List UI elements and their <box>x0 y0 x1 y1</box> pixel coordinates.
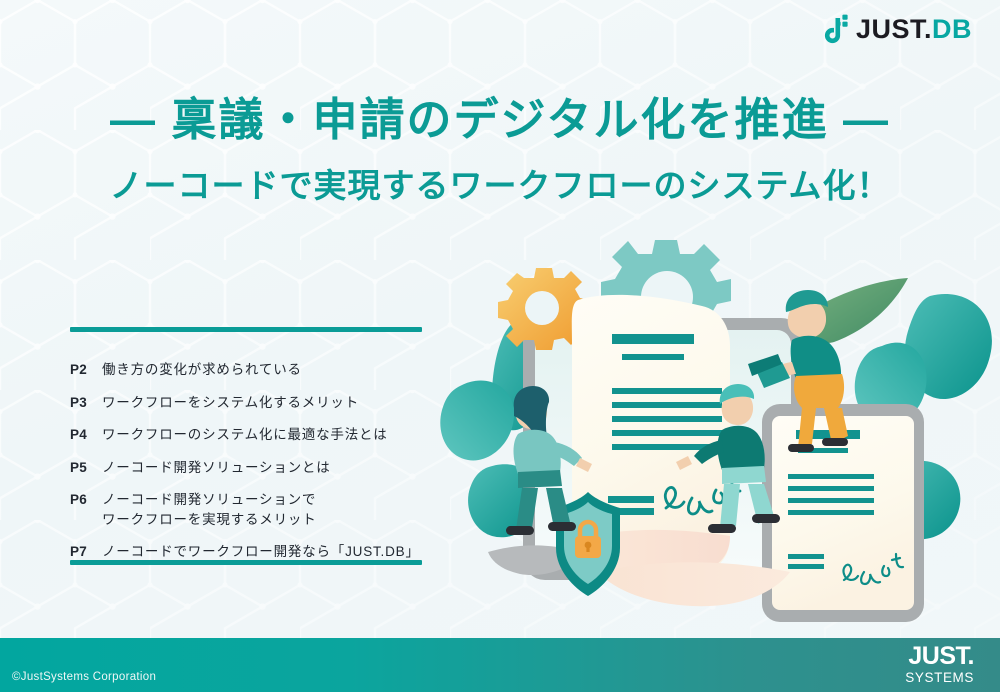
toc-entry-label-line2: ワークフローを実現するメリット <box>102 510 317 530</box>
toc-page-number: P2 <box>70 360 102 380</box>
footer-logo-main: JUST. <box>905 644 974 669</box>
toc-divider-top <box>70 327 422 332</box>
justdb-glyph-icon <box>821 14 849 44</box>
list-item[interactable]: P3 ワークフローをシステム化するメリット <box>70 393 470 413</box>
toc-page-number: P5 <box>70 458 102 478</box>
list-item[interactable]: P2 働き方の変化が求められている <box>70 360 470 380</box>
floor-shadow <box>598 562 790 606</box>
toc-entry-label: ノーコードでワークフロー開発なら「JUST.DB」 <box>102 542 420 562</box>
brand-logo-just: JUST. <box>856 14 932 44</box>
toc-page-number: P6 <box>70 490 102 510</box>
brand-logo-db: DB <box>932 14 972 44</box>
footer-logo: JUST. SYSTEMS <box>905 644 974 685</box>
toc-page-number: P3 <box>70 393 102 413</box>
brand-logo-text: JUST.DB <box>856 16 972 43</box>
brand-logo: JUST.DB <box>821 14 972 44</box>
toc-entry-label: ワークフローをシステム化するメリット <box>102 393 359 413</box>
list-item[interactable]: P5 ノーコード開発ソリューションとは <box>70 458 470 478</box>
toc-page-number: P4 <box>70 425 102 445</box>
toc-entry-label: ノーコード開発ソリューションで ワークフローを実現するメリット <box>102 490 317 529</box>
footer-band: ©JustSystems Corporation JUST. SYSTEMS <box>0 638 1000 692</box>
copyright-text: ©JustSystems Corporation <box>12 671 156 683</box>
footer-logo-sub: SYSTEMS <box>905 671 974 685</box>
toc-entry-label: 働き方の変化が求められている <box>102 360 302 380</box>
table-of-contents: P2 働き方の変化が求められている P3 ワークフローをシステム化するメリット … <box>70 360 470 575</box>
page-subtitle: ノーコードで実現するワークフローのシステム化！ <box>0 166 1000 206</box>
toc-entry-label: ワークフローのシステム化に最適な手法とは <box>102 425 388 445</box>
hero-illustration <box>430 236 1000 636</box>
toc-page-number: P7 <box>70 542 102 562</box>
toc-entry-label: ノーコード開発ソリューションとは <box>102 458 331 478</box>
list-item[interactable]: P4 ワークフローのシステム化に最適な手法とは <box>70 425 470 445</box>
slide-canvas: JUST.DB ― 稟議・申請のデジタル化を推進 ― ノーコードで実現するワーク… <box>0 0 1000 692</box>
list-item[interactable]: P6 ノーコード開発ソリューションで ワークフローを実現するメリット <box>70 490 470 529</box>
list-item[interactable]: P7 ノーコードでワークフロー開発なら「JUST.DB」 <box>70 542 470 562</box>
page-title: ― 稟議・申請のデジタル化を推進 ― <box>0 94 1000 146</box>
